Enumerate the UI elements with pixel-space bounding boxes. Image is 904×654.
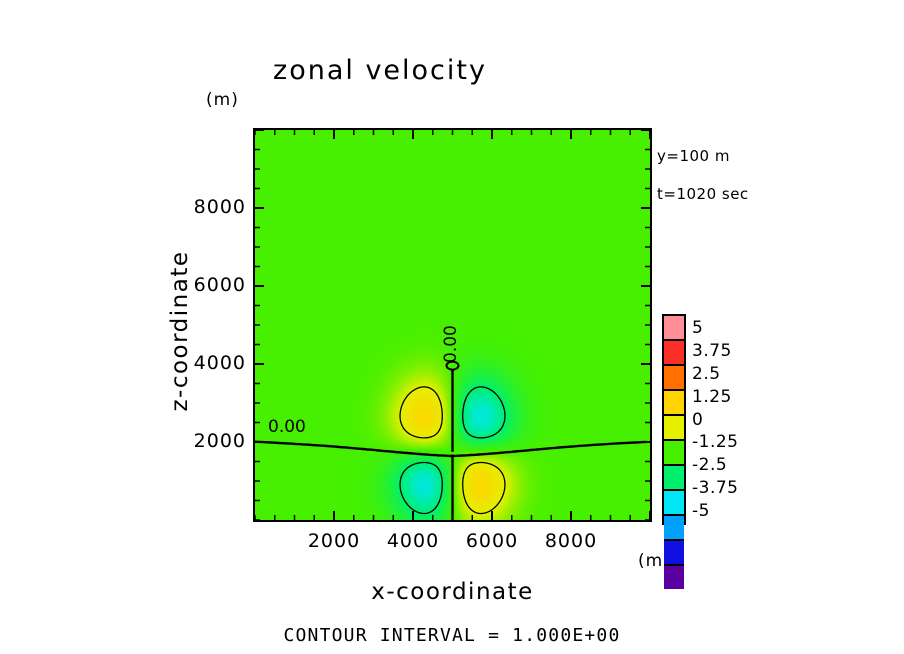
y-tick-label: 8000 — [156, 196, 246, 218]
colorbar-band — [664, 514, 684, 539]
axis-tick-marks — [253, 128, 652, 522]
y-tick-label: 4000 — [156, 352, 246, 374]
colorbar-band — [664, 489, 684, 514]
colorbar[interactable]: 53.752.51.250-1.25-2.5-3.75-5 — [662, 314, 686, 525]
colorbar-tick-label: 3.75 — [692, 341, 732, 361]
colorbar-tick-label: 2.5 — [692, 364, 721, 384]
colorbar-band — [664, 439, 684, 464]
colorbar-band — [664, 389, 684, 414]
colorbar-band — [664, 316, 684, 339]
colorbar-band — [664, 339, 684, 364]
annotation-line-y: y=100 m — [657, 147, 749, 166]
x-axis-title: x-coordinate — [253, 579, 652, 605]
colorbar-gradient — [662, 314, 686, 525]
annotation-line-t: t=1020 sec — [657, 185, 749, 204]
contour-interval-caption: CONTOUR INTERVAL = 1.000E+00 — [0, 625, 904, 646]
colorbar-tick-label: 0 — [692, 410, 703, 430]
colorbar-band — [664, 364, 684, 389]
colorbar-tick-label: -1.25 — [692, 432, 739, 452]
colorbar-tick-label: -5 — [692, 501, 710, 521]
x-tick-label: 4000 — [368, 530, 458, 552]
colorbar-band — [664, 564, 684, 589]
colorbar-band — [664, 539, 684, 564]
colorbar-tick-label: 1.25 — [692, 387, 732, 407]
colorbar-band — [664, 414, 684, 439]
x-tick-label: 6000 — [447, 530, 537, 552]
y-tick-label: 2000 — [156, 430, 246, 452]
plot-annotation: y=100 m t=1020 sec — [657, 128, 749, 223]
colorbar-band — [664, 464, 684, 489]
y-tick-label: 6000 — [156, 274, 246, 296]
colorbar-tick-label: -3.75 — [692, 478, 739, 498]
colorbar-tick-label: -2.5 — [692, 455, 727, 475]
x-tick-label: 2000 — [289, 530, 379, 552]
x-tick-label: 8000 — [526, 530, 616, 552]
x-axis-tick-labels: 2000400060008000 — [0, 530, 904, 558]
colorbar-tick-label: 5 — [692, 318, 703, 338]
